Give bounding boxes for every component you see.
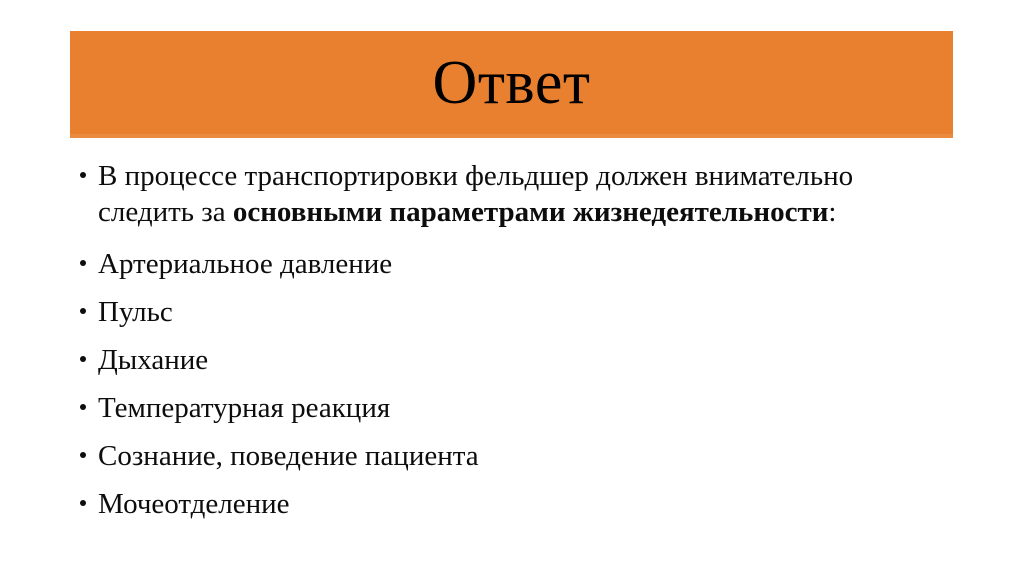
text-run: Сознание, поведение пациента <box>98 440 479 472</box>
bullet-dot-icon <box>80 500 86 506</box>
bullet-dot-icon <box>80 356 86 362</box>
list-item-respiration: Дыхание <box>70 342 900 378</box>
list-item-consciousness-behavior: Сознание, поведение пациента <box>70 438 900 474</box>
list-item-blood-pressure: Артериальное давление <box>70 246 900 282</box>
text-run: Артериальное давление <box>98 248 392 280</box>
title-banner: Ответ <box>70 31 953 138</box>
text-run: основными параметрами жизнедеятельности <box>233 196 829 228</box>
text-run: Температурная реакция <box>98 392 390 424</box>
bullet-dot-icon <box>80 404 86 410</box>
bullet-dot-icon <box>80 452 86 458</box>
bullet-list: В процессе транспортировки фельдшер долж… <box>70 158 900 522</box>
list-item-label: Артериальное давление <box>98 246 900 282</box>
list-item-pulse: Пульс <box>70 294 900 330</box>
list-item-lead: В процессе транспортировки фельдшер долж… <box>70 158 900 230</box>
bullet-dot-icon <box>80 308 86 314</box>
list-item-label: Сознание, поведение пациента <box>98 438 900 474</box>
list-item-label: Дыхание <box>98 342 900 378</box>
text-run: : <box>828 196 836 228</box>
list-item-label: Температурная реакция <box>98 390 900 426</box>
list-item-label: Пульс <box>98 294 900 330</box>
slide: Ответ В процессе транспортировки фельдше… <box>0 0 1024 576</box>
text-run: Дыхание <box>98 344 208 376</box>
page-title: Ответ <box>433 52 591 118</box>
list-item-label: В процессе транспортировки фельдшер долж… <box>98 158 900 230</box>
list-item-label: Мочеотделение <box>98 486 900 522</box>
list-item-urination: Мочеотделение <box>70 486 900 522</box>
list-item-temperature-reaction: Температурная реакция <box>70 390 900 426</box>
bullet-dot-icon <box>80 172 86 178</box>
text-run: Мочеотделение <box>98 488 290 520</box>
bullet-dot-icon <box>80 260 86 266</box>
text-run: Пульс <box>98 296 173 328</box>
